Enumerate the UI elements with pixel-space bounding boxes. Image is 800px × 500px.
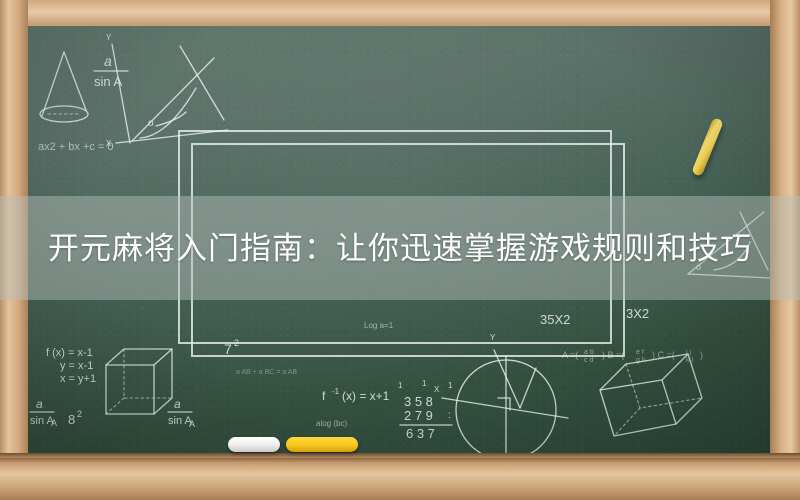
blackboard-banner: a sin A ax2 + bx +c = 0 Y X o bbox=[0, 0, 800, 500]
chalk-tray bbox=[0, 458, 800, 500]
chalk-tray-items bbox=[28, 432, 770, 458]
yellow-chalk-stick-tray bbox=[286, 437, 358, 452]
page-title: 开元麻将入门指南：让你迅速掌握游戏规则和技巧 bbox=[0, 196, 800, 300]
frame-top-rail bbox=[0, 0, 800, 26]
white-chalk-stick bbox=[228, 437, 280, 452]
